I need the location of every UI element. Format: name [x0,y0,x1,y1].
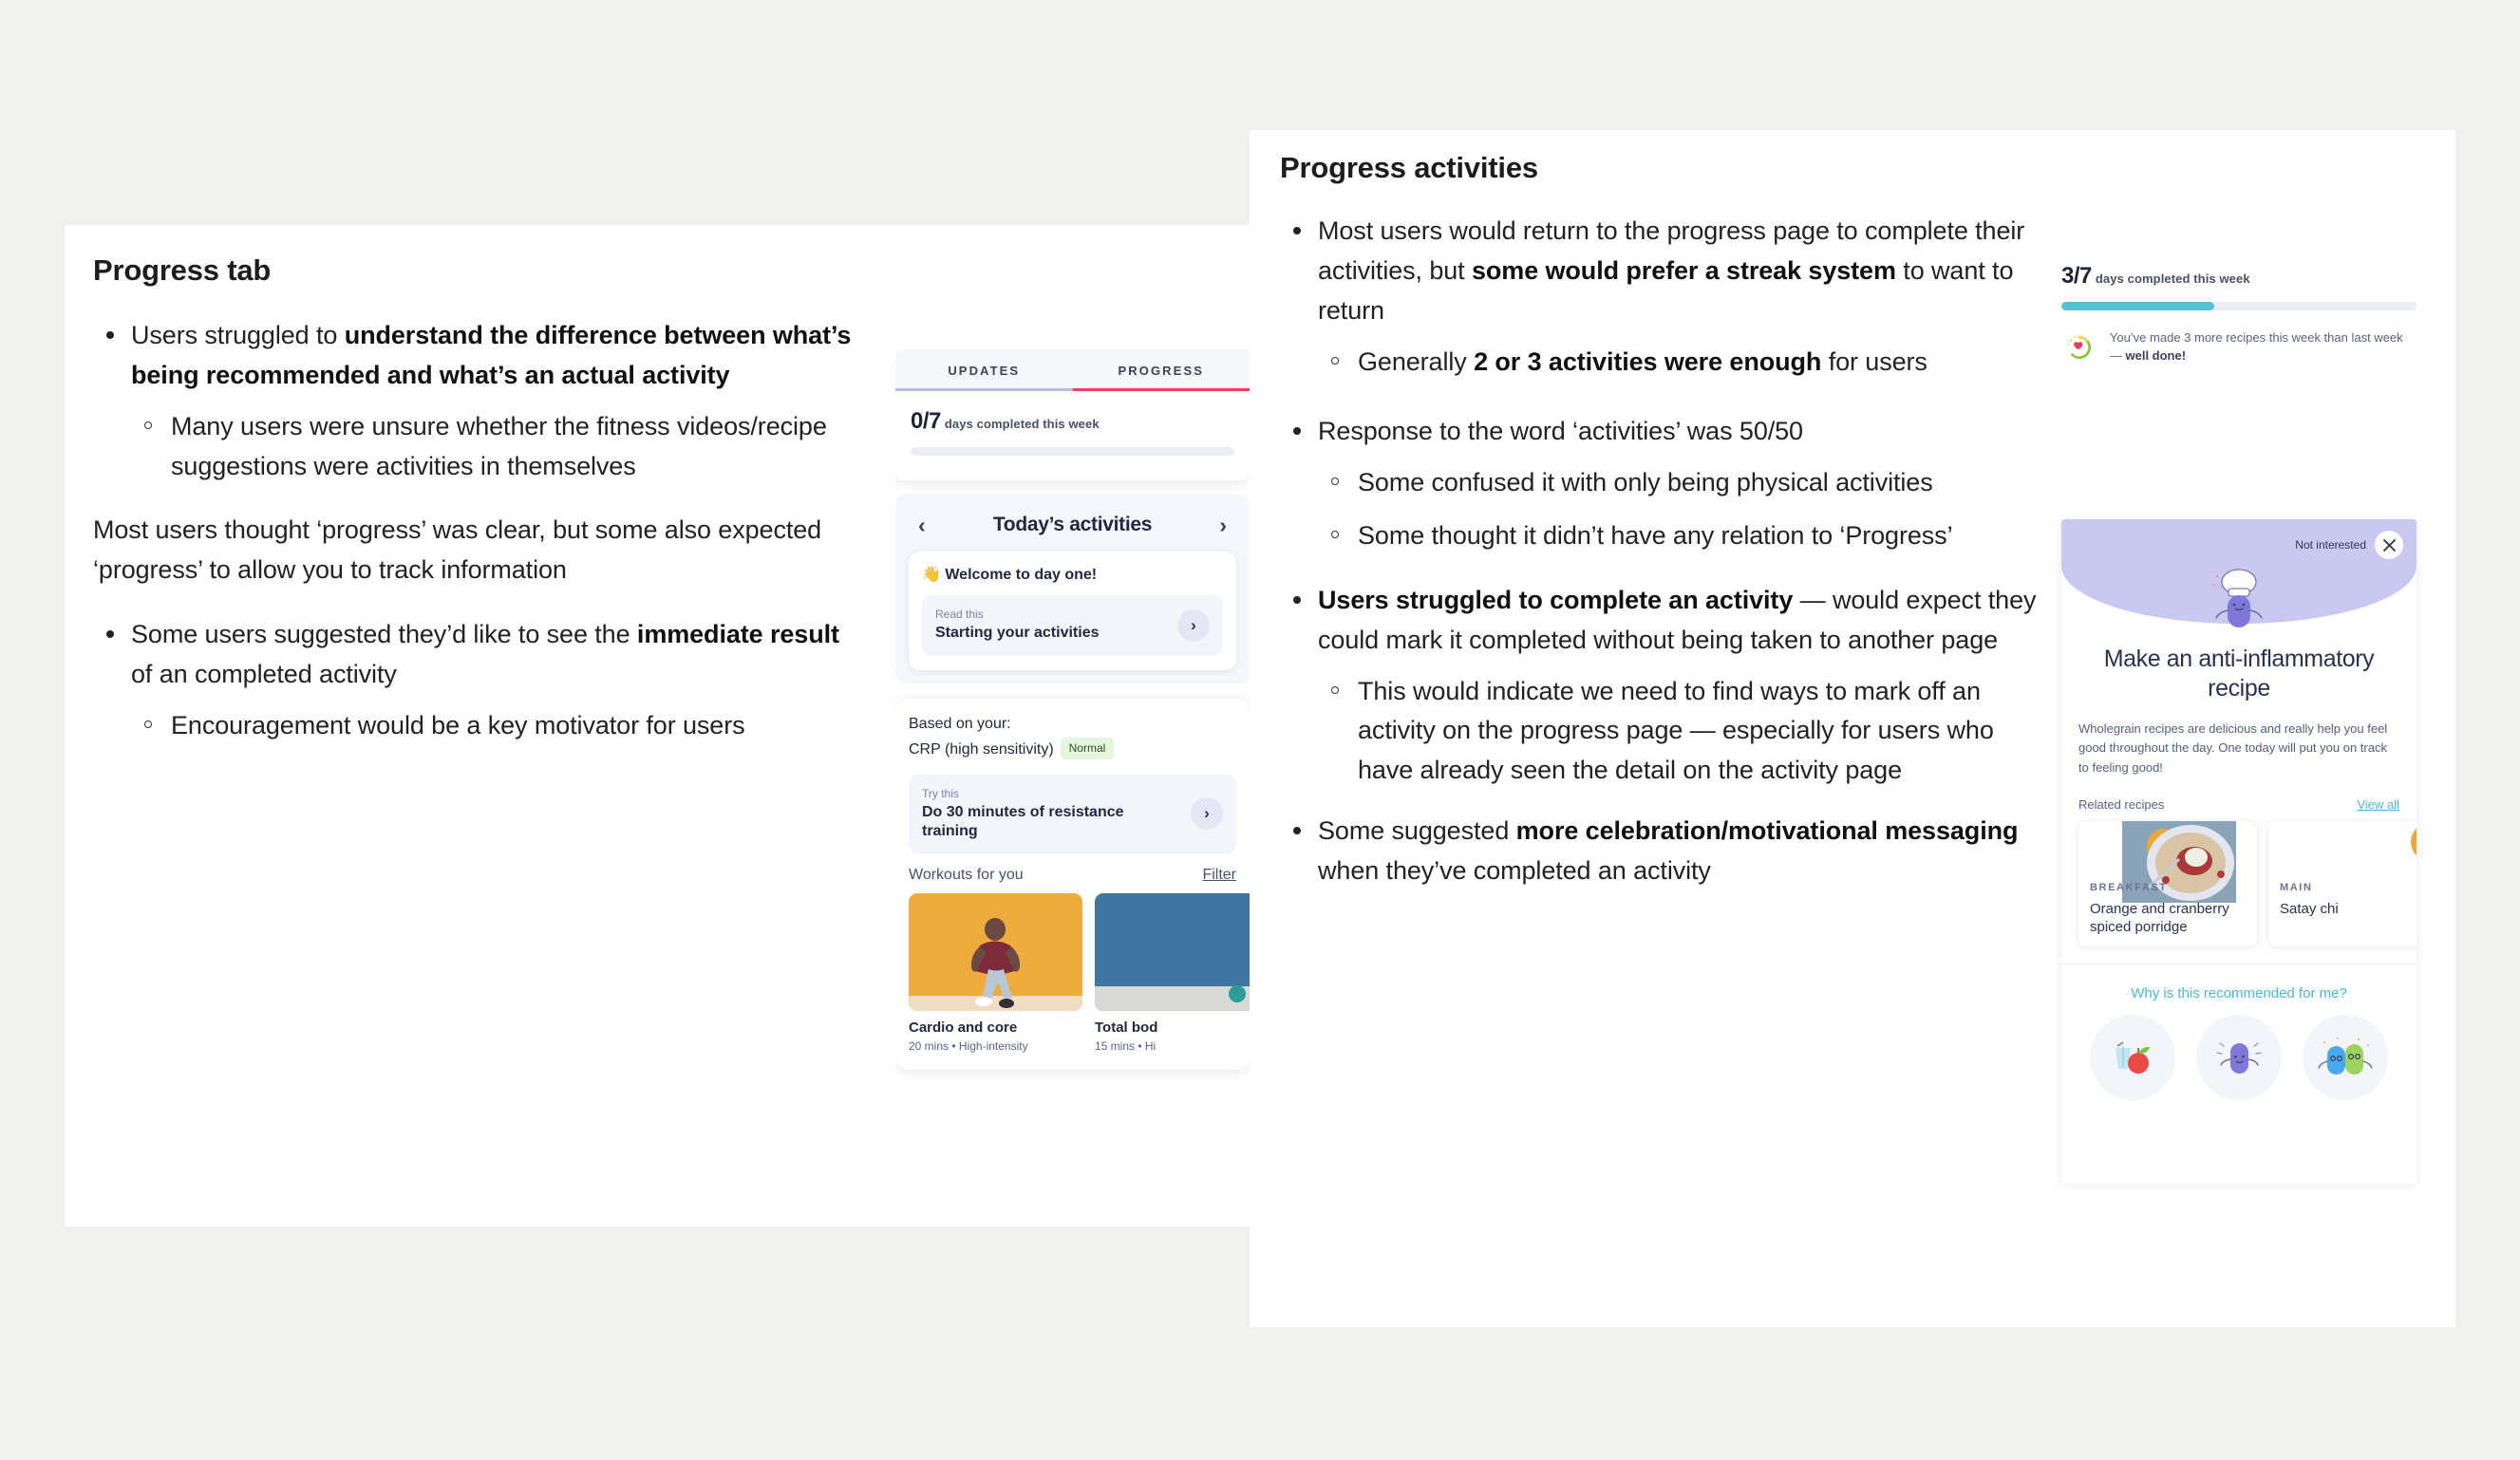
chevron-left-icon[interactable]: ‹ [918,515,926,536]
list-item: Some users suggested they’d like to see … [93,615,853,746]
workout-meta: 20 mins • High-intensity [909,1039,1082,1053]
not-interested-control[interactable]: Not interested [2295,531,2403,559]
bullet-lead: Some users suggested they’d like to see … [131,620,637,648]
related-recipe-card[interactable]: BREAKFAST Orange and cranberry spiced po… [2078,821,2257,946]
encouragement-text: You’ve made 3 more recipes this week tha… [2110,329,2417,365]
related-recipe-name: Orange and cranberry spiced porridge [2090,901,2247,937]
weekly-progress-bar [2061,302,2417,310]
two-beans-icon[interactable] [2303,1015,2388,1100]
workout-thumbnail [909,893,1082,1011]
right-page-title: Progress activities [1280,151,2040,185]
workouts-header: Workouts for you Filter [909,867,1236,884]
list-item: Most users would return to the progress … [1280,212,2040,382]
try-this-tile[interactable]: Try this Do 30 minutes of resistance tra… [909,775,1236,853]
list-item: Some confused it with only being physica… [1318,463,2040,503]
days-count-caption: days completed this week [945,417,1100,431]
left-page-title: Progress tab [93,253,853,288]
left-bullet-list-2: Some users suggested they’d like to see … [93,615,853,746]
heart-ring-icon [2061,326,2097,369]
related-recipe-card[interactable]: MAIN Satay chi [2268,821,2417,946]
encouragement-bold: well done! [2125,348,2186,363]
related-recipes-carousel[interactable]: BREAKFAST Orange and cranberry spiced po… [2061,821,2417,946]
list-item: Users struggled to complete an activity … [1280,581,2040,791]
list-item: This would indicate we need to find ways… [1318,672,2040,792]
why-recommended-link[interactable]: Why is this recommended for me? [2061,985,2417,1001]
list-item: Some suggested more celebration/motivati… [1280,812,2040,891]
related-recipe-kicker: MAIN [2280,882,2313,893]
todays-activities-section: ‹ Today’s activities › 👋 Welcome to day … [895,495,1250,683]
sub-bold: 2 or 3 activities were enough [1474,347,1821,376]
based-on-label: Based on your: [909,714,1236,735]
workout-photo-illustration [909,893,1082,1011]
welcome-activity-card: 👋 Welcome to day one! Read this Starting… [909,552,1236,670]
bullet-bold: some would prefer a streak system [1472,256,1896,285]
right-sublist: Generally 2 or 3 activities were enough … [1318,343,2040,383]
recommendation-card: Based on your: CRP (high sensitivity)Nor… [895,699,1250,1070]
bullet-bold: Users struggled to complete an activity [1318,586,1793,614]
workouts-carousel[interactable]: Cardio and core 20 mins • High-intensity… [909,893,1236,1053]
chevron-right-icon[interactable]: › [1191,797,1223,830]
bullet-tail: when they’ve completed an activity [1318,856,1711,885]
list-item: Some thought it didn’t have any relation… [1318,516,2040,556]
bullet-lead: Some suggested [1318,816,1516,845]
todays-activities-title: Today’s activities [993,514,1152,536]
sub-tail: for users [1821,347,1928,376]
recipe-title: Make an anti-inflammatory recipe [2086,645,2392,704]
status-badge: Normal [1061,738,1115,759]
left-sublist-2: Encouragement would be a key motivator f… [131,706,853,746]
progress-widget-mockup: 3/7days completed this week You’ve made … [2061,263,2417,369]
days-count-value: 0/7 [911,408,941,434]
satay-photo [2401,821,2417,946]
not-interested-label: Not interested [2295,538,2366,552]
tile-kicker: Read this [935,608,1100,621]
progress-tab-mockup: UPDATES PROGRESS 0/7days completed this … [895,349,1250,1226]
workout-photo-illustration [1095,893,1250,1011]
left-panel-content: Progress tab Users struggled to understa… [93,253,853,767]
recipe-card-mockup: Not interested Make an anti-inflammatory… [2061,519,2417,1184]
todays-activities-header: ‹ Today’s activities › [909,510,1236,552]
left-bullet-list-1: Users struggled to understand the differ… [93,316,853,486]
purple-bean-glyph [2210,1033,2267,1082]
biomarker-name: CRP (high sensitivity) [909,741,1054,758]
close-icon[interactable] [2375,531,2403,559]
bullet-lead: Users struggled to [131,321,345,349]
left-slide-panel: Progress tab Users struggled to understa… [65,225,1250,1226]
list-item: Response to the word ‘activities’ was 50… [1280,412,2040,556]
recipe-hero: Not interested [2061,519,2417,624]
close-x-glyph [2382,538,2397,552]
workout-title: Total bod [1095,1020,1250,1036]
related-recipes-heading: Related recipes [2078,797,2164,812]
left-paragraph: Most users thought ‘progress’ was clear,… [93,511,853,590]
biomarker-row: CRP (high sensitivity)Normal [909,738,1236,760]
divider [2061,964,2417,964]
list-item: Many users were unsure whether the fitne… [131,407,853,487]
right-panel-content: Progress activities Most users would ret… [1280,151,2040,912]
smoothie-apple-glyph [2104,1033,2161,1082]
chef-bean-mascot-icon [2204,561,2274,633]
phone-screen: UPDATES PROGRESS 0/7days completed this … [895,349,1250,480]
days-completed-count: 3/7days completed this week [2061,263,2417,290]
two-beans-glyph [2315,1033,2376,1082]
days-count-value: 3/7 [2061,263,2092,289]
days-completed-count: 0/7days completed this week [911,408,1234,435]
phone-tabbar: UPDATES PROGRESS [895,349,1250,391]
chevron-right-icon[interactable]: › [1177,609,1210,642]
chevron-right-icon[interactable]: › [1219,515,1227,536]
workout-title: Cardio and core [909,1020,1082,1036]
related-recipes-header: Related recipes View all [2078,797,2399,812]
right-slide-panel: Progress activities Most users would ret… [1250,130,2455,1327]
days-count-caption: days completed this week [2096,271,2250,286]
tile-title: Starting your activities [935,624,1100,643]
sub-lead: Generally [1358,347,1474,376]
right-sublist: Some confused it with only being physica… [1318,463,2040,556]
tab-progress[interactable]: PROGRESS [1073,364,1251,391]
workout-card[interactable]: Cardio and core 20 mins • High-intensity [909,893,1082,1053]
welcome-message: 👋 Welcome to day one! [922,565,1223,584]
encouragement-row: You’ve made 3 more recipes this week tha… [2061,326,2417,369]
list-item: Encouragement would be a key motivator f… [131,706,853,746]
workout-card[interactable]: Total bod 15 mins • Hi [1095,893,1250,1053]
purple-bean-icon[interactable] [2196,1015,2282,1100]
filter-link[interactable]: Filter [1202,867,1236,884]
bullet-bold: immediate result [637,620,839,648]
right-sublist: This would indicate we need to find ways… [1318,672,2040,792]
tile-title: Do 30 minutes of resistance training [922,803,1183,841]
tile-kicker: Try this [922,787,1183,800]
workouts-heading: Workouts for you [909,867,1024,884]
list-item: Generally 2 or 3 activities were enough … [1318,343,2040,383]
left-sublist-1: Many users were unsure whether the fitne… [131,407,853,487]
list-item: Users struggled to understand the differ… [93,316,853,486]
bullet-bold: more celebration/motivational messaging [1516,816,2019,845]
view-all-link[interactable]: View all [2357,797,2399,812]
recipe-description: Wholegrain recipes are delicious and rea… [2078,720,2399,778]
related-recipe-kicker: BREAKFAST [2090,882,2168,893]
right-bullet-list: Most users would return to the progress … [1280,212,2040,891]
weekly-progress-section: 0/7days completed this week [895,391,1250,480]
related-recipe-name: Satay chi [2280,901,2417,919]
read-this-tile[interactable]: Read this Starting your activities › [922,595,1223,655]
workout-meta: 15 mins • Hi [1095,1039,1250,1053]
workout-thumbnail [1095,893,1250,1011]
why-icons-row [2061,1015,2417,1100]
smoothie-apple-icon[interactable] [2090,1015,2175,1100]
weekly-progress-bar [911,447,1234,456]
bullet-tail: of an completed activity [131,660,397,688]
bullet-lead: Response to the word ‘activities’ was 50… [1318,417,1803,445]
tab-updates[interactable]: UPDATES [895,364,1073,391]
